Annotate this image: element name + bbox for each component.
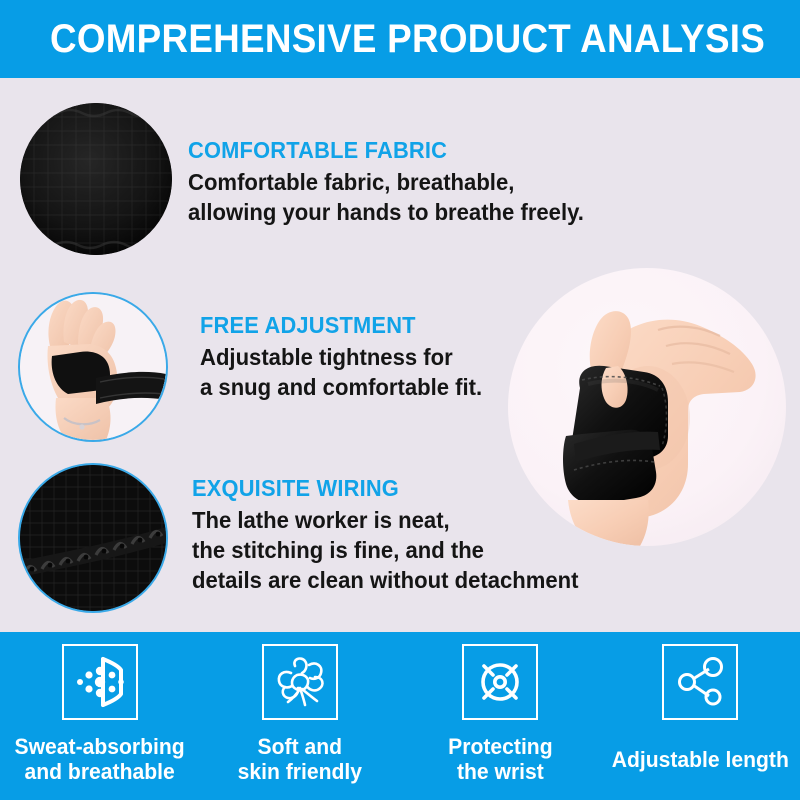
main-content: COMFORTABLE FABRIC Comfortable fabric, b…: [0, 78, 800, 632]
footer-feature-bar: Sweat-absorbing and breathable Soft and …: [0, 632, 800, 800]
feature-image-fabric: [20, 103, 172, 255]
target-protection-icon: [462, 644, 538, 720]
feature-title-3: EXQUISITE WIRING: [192, 476, 574, 501]
moisture-wicking-glyph: [69, 651, 131, 713]
footer-label-adjustable-length: Adjustable length: [611, 747, 788, 772]
feature-image-adjustment: [18, 292, 168, 442]
footer-item-soft-skin-friendly: Soft and skin friendly: [200, 644, 400, 784]
footer-item-adjustable-length: Adjustable length: [600, 644, 800, 772]
footer-label-soft-skin-friendly: Soft and skin friendly: [238, 734, 362, 784]
footer-item-protecting-wrist: Protecting the wrist: [400, 644, 600, 784]
feature-image-wiring: [18, 463, 168, 613]
page-title: COMPREHENSIVE PRODUCT ANALYSIS: [50, 19, 765, 59]
feature-block-3: EXQUISITE WIRING The lathe worker is nea…: [192, 476, 595, 596]
feature-title-2: FREE ADJUSTMENT: [200, 313, 479, 338]
header-banner: COMPREHENSIVE PRODUCT ANALYSIS: [0, 0, 800, 78]
feature-body-3: The lathe worker is neat, the stitching …: [192, 506, 579, 596]
footer-label-protecting-wrist: Protecting the wrist: [448, 734, 552, 784]
feature-title-1: COMFORTABLE FABRIC: [188, 138, 580, 163]
hand-with-strap-icon: [20, 294, 166, 440]
moisture-wicking-icon: [62, 644, 138, 720]
footer-label-sweat-absorbing: Sweat-absorbing and breathable: [15, 734, 185, 784]
share-nodes-icon: [662, 644, 738, 720]
feature-body-1: Comfortable fabric, breathable, allowing…: [188, 168, 584, 228]
cotton-boll-icon: [262, 644, 338, 720]
feature-body-2: Adjustable tightness for a snug and comf…: [200, 343, 482, 403]
stitching-detail-icon: [20, 465, 166, 611]
target-protection-glyph: [471, 653, 529, 711]
black-fabric-texture-icon: [20, 103, 172, 255]
footer-item-sweat-absorbing: Sweat-absorbing and breathable: [0, 644, 200, 784]
cotton-boll-glyph: [271, 653, 329, 711]
feature-block-1: COMFORTABLE FABRIC Comfortable fabric, b…: [188, 138, 600, 228]
feature-block-2: FREE ADJUSTMENT Adjustable tightness for…: [200, 313, 494, 403]
share-nodes-glyph: [671, 653, 729, 711]
